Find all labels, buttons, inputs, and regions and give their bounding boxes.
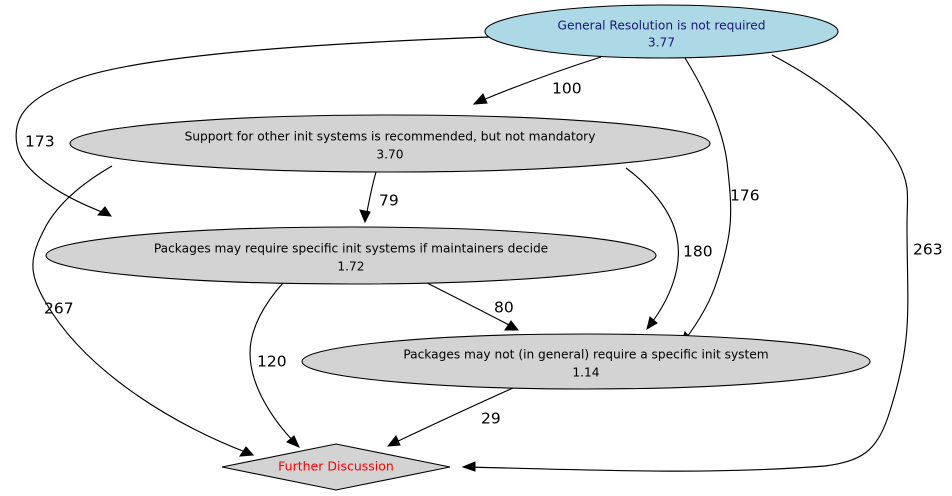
node-layer: General Resolution is not required 3.77 … — [46, 5, 870, 490]
arrow-head — [647, 317, 657, 329]
node-score: 3.77 — [648, 36, 675, 50]
node-score: 1.72 — [337, 260, 364, 274]
edge-label-80: 80 — [494, 299, 514, 317]
edge-gr-to-support — [474, 57, 601, 104]
edge-label-173: 173 — [25, 133, 55, 151]
node-title: Packages may not (in general) require a … — [403, 348, 768, 362]
graph-canvas-container: General Resolution is not required 3.77 … — [0, 0, 952, 496]
edge-label-100: 100 — [552, 80, 582, 98]
edge-label-263: 263 — [913, 241, 943, 259]
arrow-head — [463, 462, 475, 471]
arrow-head — [388, 436, 400, 446]
node-packages-may-not[interactable]: Packages may not (in general) require a … — [302, 334, 870, 389]
edge-label-79: 79 — [379, 192, 399, 210]
edge-path — [684, 58, 731, 341]
edge-path — [478, 57, 601, 102]
node-title: General Resolution is not required — [558, 19, 766, 33]
edge-support-to-require — [360, 172, 376, 222]
node-support-other-init[interactable]: Support for other init systems is recomm… — [70, 115, 710, 172]
node-ellipse[interactable] — [70, 115, 710, 172]
node-title: Further Discussion — [278, 459, 394, 474]
directed-graph: General Resolution is not required 3.77 … — [0, 0, 952, 496]
arrow-head — [287, 436, 299, 447]
node-packages-may-require[interactable]: Packages may require specific init syste… — [46, 227, 656, 284]
node-title: Support for other init systems is recomm… — [185, 130, 596, 144]
arrow-head — [240, 447, 253, 456]
node-ellipse[interactable] — [302, 334, 870, 389]
edge-gr-to-maynot — [681, 58, 731, 344]
edge-label-180: 180 — [683, 243, 713, 261]
node-score: 3.70 — [376, 148, 403, 162]
arrow-head — [505, 321, 518, 330]
edge-label-120: 120 — [257, 353, 287, 371]
node-title: Packages may require specific init syste… — [154, 242, 548, 256]
edge-path — [366, 172, 376, 217]
node-gr-not-required[interactable]: General Resolution is not required 3.77 — [485, 5, 838, 58]
arrow-head — [360, 210, 370, 222]
node-score: 1.14 — [572, 366, 599, 380]
node-ellipse[interactable] — [46, 227, 656, 284]
edge-label-29: 29 — [481, 410, 501, 428]
edge-label-267: 267 — [44, 300, 74, 318]
arrow-head — [474, 94, 487, 104]
edge-label-176: 176 — [730, 187, 760, 205]
node-further-discussion[interactable]: Further Discussion — [222, 444, 450, 490]
